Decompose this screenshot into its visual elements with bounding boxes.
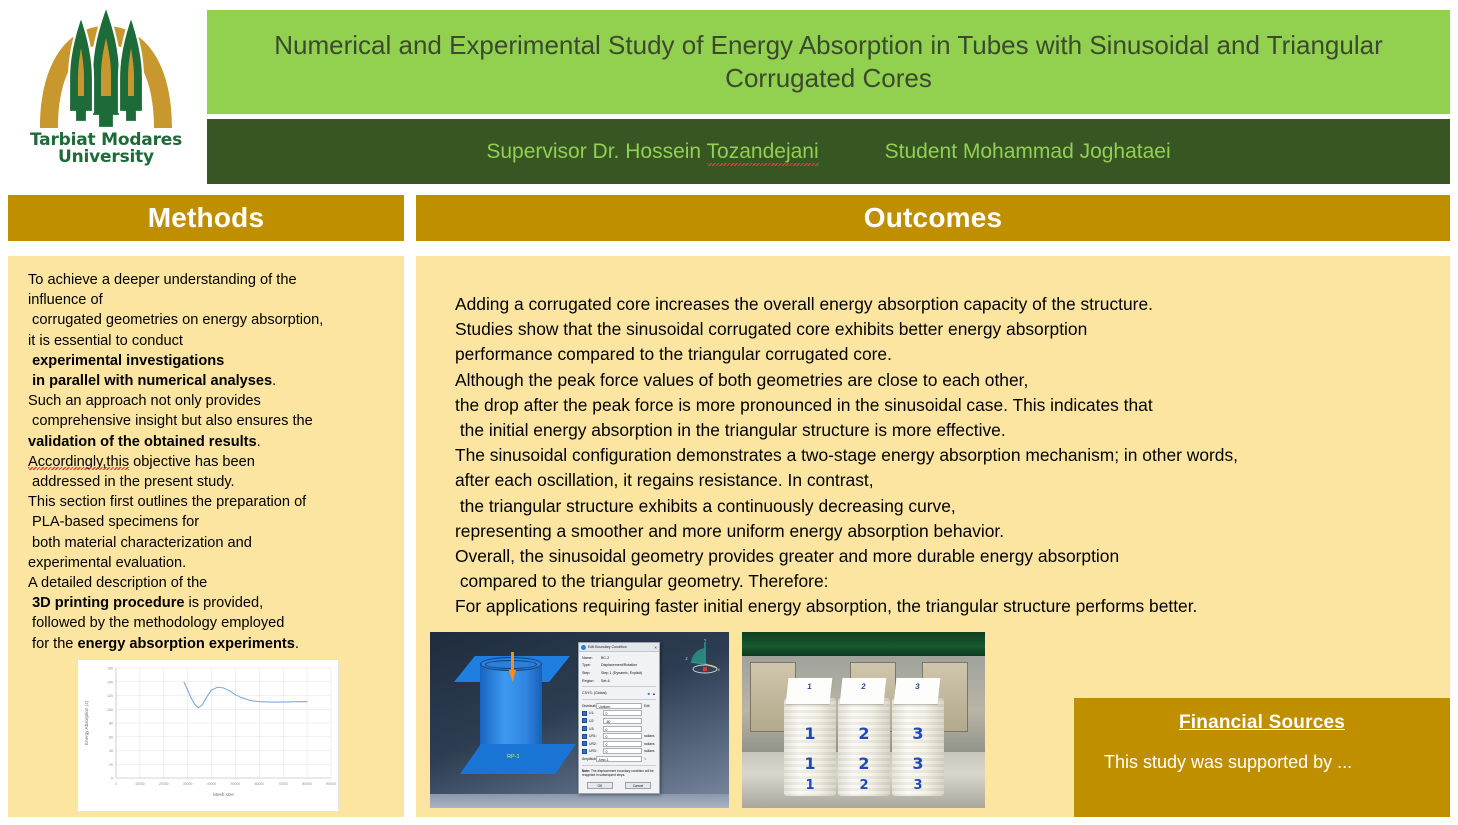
abaqus-simulation-figure: RP-1 Y Z X Edit Boundary Condition × Nam… bbox=[430, 632, 729, 808]
csys-pick-icon[interactable]: ▲ bbox=[652, 691, 656, 696]
dof-unit: radians bbox=[644, 734, 656, 738]
dialog-field-row: Step:Step-1 (Dynamic, Explicit) bbox=[582, 669, 656, 677]
dialog-note: Note: The displacement boundary conditio… bbox=[582, 768, 656, 778]
methods-line: corrugated geometries on energy absorpti… bbox=[28, 310, 390, 330]
outcomes-line: the triangular structure exhibits a cont… bbox=[455, 494, 1440, 519]
specimen-cylinder: 222 bbox=[838, 698, 890, 796]
dof-checkbox[interactable] bbox=[582, 734, 587, 739]
methods-body-text: To achieve a deeper understanding of the… bbox=[28, 270, 390, 654]
distribution-select[interactable]: Uniform bbox=[596, 703, 642, 709]
dialog-distribution-row[interactable]: Distribution: Uniform Edit bbox=[582, 702, 656, 710]
dialog-amplitude-row[interactable]: Amplitude: Amp-1 ✎ bbox=[582, 755, 656, 763]
methods-emphasis: validation of the obtained results bbox=[28, 434, 257, 450]
dialog-field-value: Set-6 bbox=[601, 679, 656, 683]
specimen-photo-figure: 111122223333 bbox=[742, 632, 985, 808]
outcomes-line: compared to the triangular geometry. The… bbox=[455, 569, 1440, 594]
dialog-field-key: Name: bbox=[582, 656, 599, 660]
methods-line: both material characterization and bbox=[28, 533, 390, 553]
dialog-field-value: Displacement/Rotation bbox=[601, 663, 656, 667]
specimen-handwritten-number: 1 bbox=[784, 778, 836, 793]
dialog-dof-list: U1:0U2:-60U3:0UR1:0radiansUR2:0radiansUR… bbox=[582, 710, 656, 756]
dialog-app-icon bbox=[581, 645, 586, 650]
abaqus-axis-triad-icon: Y Z X bbox=[683, 638, 721, 682]
outcomes-line: performance compared to the triangular c… bbox=[455, 342, 1440, 367]
dof-label: UR2: bbox=[589, 742, 601, 746]
specimen-paper-tag: 2 bbox=[840, 678, 887, 704]
chart-xtick: 50000 bbox=[231, 782, 241, 786]
financial-sources-title: Financial Sources bbox=[1074, 698, 1450, 734]
specimen-handwritten-number: 2 bbox=[838, 754, 890, 773]
mesh-convergence-chart: 0204060801001201401600100002000030000400… bbox=[77, 659, 339, 812]
specimen-handwritten-number: 2 bbox=[838, 778, 890, 793]
methods-line: experimental investigations bbox=[28, 351, 390, 371]
chart-xtick: 90000 bbox=[326, 782, 336, 786]
amplitude-select[interactable]: Amp-1 bbox=[596, 756, 642, 762]
dialog-csys-label: CSYS: (Global) bbox=[582, 691, 646, 695]
logo-university-name: Tarbiat Modares University bbox=[30, 132, 182, 167]
dialog-dof-row[interactable]: UR1:0radians bbox=[582, 732, 656, 740]
methods-misspelled-fragment: Accordingly,this bbox=[28, 454, 129, 470]
methods-line: A detailed description of the bbox=[28, 573, 390, 593]
chart-ytick: 140 bbox=[107, 680, 113, 684]
dialog-field-list: Name:BC-2Type:Displacement/RotationStep:… bbox=[582, 654, 656, 684]
methods-line: comprehensive insight but also ensures t… bbox=[28, 411, 390, 431]
outcomes-section-header: Outcomes bbox=[416, 195, 1450, 241]
dof-checkbox[interactable] bbox=[582, 711, 587, 716]
dialog-note-label: Note: bbox=[582, 769, 590, 773]
svg-text:Z: Z bbox=[686, 657, 689, 661]
chart-xtick: 30000 bbox=[183, 782, 193, 786]
dof-label: U3: bbox=[589, 727, 601, 731]
tarbiat-modares-logo-svg bbox=[26, 4, 186, 132]
supervisor-name: Supervisor Dr. Hossein Tozandejani bbox=[486, 140, 818, 164]
chart-ytick: 20 bbox=[109, 763, 113, 767]
dialog-field-value: BC-2 bbox=[601, 656, 656, 660]
dof-input[interactable]: -60 bbox=[603, 718, 642, 724]
outcomes-line: the initial energy absorption in the tri… bbox=[455, 418, 1440, 443]
dof-unit: radians bbox=[644, 742, 656, 746]
dof-label: U2: bbox=[589, 719, 601, 723]
methods-line: influence of bbox=[28, 290, 390, 310]
dialog-note-text: The displacement boundary condition will… bbox=[582, 769, 654, 777]
financial-sources-box: Financial Sources This study was support… bbox=[1074, 698, 1450, 817]
dialog-divider-3 bbox=[582, 765, 656, 766]
authors-bar: Supervisor Dr. Hossein Tozandejani Stude… bbox=[207, 119, 1450, 184]
outcomes-line: Adding a corrugated core increases the o… bbox=[455, 292, 1440, 317]
dof-input[interactable]: 0 bbox=[603, 741, 642, 747]
methods-line: experimental evaluation. bbox=[28, 553, 390, 573]
dof-input[interactable]: 0 bbox=[603, 726, 642, 732]
chart-xtick: 20000 bbox=[159, 782, 169, 786]
outcomes-line: The sinusoidal configuration demonstrate… bbox=[455, 443, 1440, 468]
methods-line: addressed in the present study. bbox=[28, 472, 390, 492]
amplitude-create-icon[interactable]: ✎ bbox=[644, 757, 656, 761]
page-title: Numerical and Experimental Study of Ener… bbox=[207, 29, 1450, 96]
dialog-dof-row[interactable]: U1:0 bbox=[582, 710, 656, 718]
methods-line: PLA-based specimens for bbox=[28, 512, 390, 532]
methods-line: Such an approach not only provides bbox=[28, 391, 390, 411]
chart-ylabel: Energy Absorption (J) bbox=[84, 700, 89, 745]
chart-ytick: 60 bbox=[109, 735, 113, 739]
dialog-dof-row[interactable]: UR2:0radians bbox=[582, 740, 656, 748]
methods-heading-text: Methods bbox=[148, 202, 265, 234]
amplitude-label: Amplitude: bbox=[582, 757, 594, 761]
dof-checkbox[interactable] bbox=[582, 726, 587, 731]
chart-xtick: 10000 bbox=[135, 782, 145, 786]
dialog-titlebar: Edit Boundary Condition × bbox=[579, 643, 659, 652]
svg-text:X: X bbox=[718, 668, 721, 672]
logo-name-line-2: University bbox=[30, 149, 182, 166]
dialog-divider-1 bbox=[582, 686, 656, 687]
dof-checkbox[interactable] bbox=[582, 749, 587, 754]
dof-checkbox[interactable] bbox=[582, 741, 587, 746]
methods-line: in parallel with numerical analyses. bbox=[28, 371, 390, 391]
methods-line: validation of the obtained results. bbox=[28, 432, 390, 452]
chart-ytick: 160 bbox=[107, 667, 113, 671]
supervisor-surname-misspelled: Tozandejani bbox=[707, 140, 819, 163]
outcomes-heading-text: Outcomes bbox=[864, 202, 1003, 234]
specimen-handwritten-number: 2 bbox=[838, 724, 890, 743]
university-logo: Tarbiat Modares University bbox=[8, 4, 204, 182]
methods-emphasis: 3D printing procedure bbox=[32, 595, 184, 611]
outcomes-line: Overall, the sinusoidal geometry provide… bbox=[455, 544, 1440, 569]
chart-ytick: 0 bbox=[111, 777, 113, 781]
edit-boundary-condition-dialog[interactable]: Edit Boundary Condition × Name:BC-2Type:… bbox=[578, 642, 660, 794]
chart-xtick: 0 bbox=[115, 782, 117, 786]
methods-line: for the energy absorption experiments. bbox=[28, 634, 390, 654]
methods-emphasis: energy absorption experiments bbox=[77, 636, 294, 652]
specimen-handwritten-number: 3 bbox=[892, 778, 944, 793]
dof-input[interactable]: 0 bbox=[603, 710, 642, 716]
distribution-edit-button[interactable]: Edit bbox=[644, 704, 656, 708]
abaqus-floor-strip bbox=[430, 794, 729, 808]
specimen-handwritten-number: 3 bbox=[892, 754, 944, 773]
chart-ytick: 80 bbox=[109, 722, 113, 726]
student-name: Student Mohammad Joghataei bbox=[885, 140, 1171, 164]
specimen-paper-tag: 3 bbox=[894, 678, 941, 704]
specimen-paper-tag: 1 bbox=[786, 678, 833, 704]
methods-line: Accordingly,this objective has been bbox=[28, 452, 390, 472]
dialog-csys-row[interactable]: CSYS: (Global) ■ ▲ bbox=[582, 689, 656, 697]
dialog-body: Name:BC-2Type:Displacement/RotationStep:… bbox=[579, 652, 659, 780]
dialog-field-key: Type: bbox=[582, 663, 599, 667]
specimen-handwritten-number: 1 bbox=[784, 754, 836, 773]
methods-emphasis: in parallel with numerical analyses bbox=[32, 373, 272, 389]
dof-label: UR1: bbox=[589, 734, 601, 738]
specimen-tag-number: 3 bbox=[895, 682, 940, 691]
dialog-divider-2 bbox=[582, 699, 656, 700]
chart-xtick: 60000 bbox=[255, 782, 265, 786]
outcomes-line: the drop after the peak force is more pr… bbox=[455, 393, 1440, 418]
dialog-title: Edit Boundary Condition bbox=[588, 645, 652, 649]
specimen-tag-number: 1 bbox=[787, 682, 832, 691]
methods-line: followed by the methodology employed bbox=[28, 613, 390, 633]
abaqus-reference-point-label: RP-1 bbox=[507, 754, 520, 760]
dof-label: UR3: bbox=[589, 749, 601, 753]
dialog-field-key: Step: bbox=[582, 671, 599, 675]
dialog-dof-row[interactable]: U3:0 bbox=[582, 725, 656, 733]
chart-ytick: 40 bbox=[109, 749, 113, 753]
dof-checkbox[interactable] bbox=[582, 718, 587, 723]
methods-line: 3D printing procedure is provided, bbox=[28, 593, 390, 613]
methods-line: This section first outlines the preparat… bbox=[28, 492, 390, 512]
outcomes-line: after each oscillation, it regains resis… bbox=[455, 468, 1440, 493]
chart-ytick: 100 bbox=[107, 708, 113, 712]
financial-sources-body: This study was supported by ... bbox=[1074, 734, 1450, 773]
dof-input[interactable]: 0 bbox=[603, 733, 642, 739]
specimen-handwritten-number: 1 bbox=[784, 724, 836, 743]
supervisor-prefix: Supervisor Dr. Hossein bbox=[486, 140, 706, 163]
csys-edit-icon[interactable]: ■ bbox=[648, 691, 650, 696]
dialog-dof-row[interactable]: U2:-60 bbox=[582, 717, 656, 725]
specimen-handwritten-number: 3 bbox=[892, 724, 944, 743]
dialog-field-row: Region:Set-6 bbox=[582, 677, 656, 685]
svg-text:Y: Y bbox=[704, 638, 707, 642]
dialog-field-value: Step-1 (Dynamic, Explicit) bbox=[601, 671, 656, 675]
dialog-buttons: OK Cancel bbox=[579, 780, 659, 791]
outcomes-line: representing a smoother and more uniform… bbox=[455, 519, 1440, 544]
chart-xtick: 70000 bbox=[279, 782, 289, 786]
outcomes-body-text: Adding a corrugated core increases the o… bbox=[455, 292, 1440, 620]
close-icon[interactable]: × bbox=[654, 645, 657, 650]
methods-line: To achieve a deeper understanding of the bbox=[28, 270, 390, 290]
chart-series-line bbox=[184, 682, 307, 707]
methods-line: it is essential to conduct bbox=[28, 331, 390, 351]
chart-xlabel: Mesh size bbox=[213, 792, 234, 797]
photo-machine-beam bbox=[742, 632, 985, 656]
outcomes-line: Although the peak force values of both g… bbox=[455, 368, 1440, 393]
abaqus-load-arrow-icon bbox=[509, 652, 516, 684]
chart-xtick: 40000 bbox=[207, 782, 217, 786]
dialog-field-row: Type:Displacement/Rotation bbox=[582, 662, 656, 670]
chart-xtick: 80000 bbox=[302, 782, 312, 786]
methods-section-header: Methods bbox=[8, 195, 404, 241]
cancel-button[interactable]: Cancel bbox=[625, 782, 651, 789]
outcomes-line: Studies show that the sinusoidal corruga… bbox=[455, 317, 1440, 342]
ok-button[interactable]: OK bbox=[587, 782, 613, 789]
dof-input[interactable]: 0 bbox=[603, 748, 642, 754]
methods-panel: To achieve a deeper understanding of the… bbox=[8, 256, 404, 817]
outcomes-line: For applications requiring faster initia… bbox=[455, 594, 1440, 619]
logo-mark-icon bbox=[26, 4, 186, 132]
specimen-cylinder: 333 bbox=[892, 698, 944, 796]
specimen-cylinder: 111 bbox=[784, 698, 836, 796]
mesh-convergence-chart-svg: 0204060801001201401600100002000030000400… bbox=[78, 660, 338, 811]
dialog-field-row: Name:BC-2 bbox=[582, 654, 656, 662]
chart-ytick: 120 bbox=[107, 694, 113, 698]
poster-header: Tarbiat Modares University Numerical and… bbox=[0, 0, 1458, 186]
distribution-label: Distribution: bbox=[582, 704, 594, 708]
poster-title-bar: Numerical and Experimental Study of Ener… bbox=[207, 10, 1450, 114]
methods-emphasis: experimental investigations bbox=[32, 353, 224, 369]
specimen-tag-number: 2 bbox=[841, 682, 886, 691]
dof-unit: radians bbox=[644, 749, 656, 753]
dialog-dof-row[interactable]: UR3:0radians bbox=[582, 748, 656, 756]
dialog-field-key: Region: bbox=[582, 679, 599, 683]
dof-label: U1: bbox=[589, 711, 601, 715]
